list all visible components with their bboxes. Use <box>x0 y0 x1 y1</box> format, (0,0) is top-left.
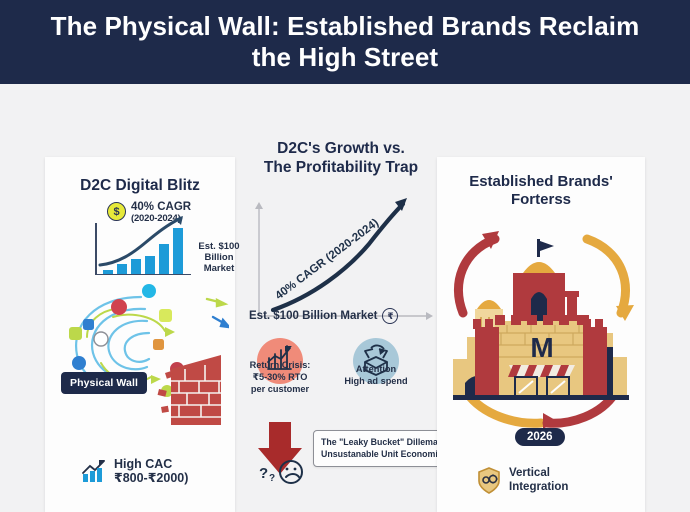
market-size-label: Est. $100 Billion Market ₹ <box>249 308 398 324</box>
question-mark-small: ? <box>269 473 275 484</box>
physical-wall-badge: Physical Wall <box>61 372 147 394</box>
chart-bar <box>103 270 113 274</box>
fortress-monogram: M <box>530 332 553 363</box>
vertical-integration-stat: Vertical Integration <box>477 467 568 495</box>
return-crisis-title: Return Crisis: <box>233 360 327 372</box>
page-header: The Physical Wall: Established Brands Re… <box>0 0 690 84</box>
chart-bar <box>145 256 155 274</box>
return-crisis-sub: per customer <box>233 384 327 396</box>
growth-curve-chart: 40% CAGR (2020-2024) <box>243 192 439 324</box>
right-panel-title: Established Brands' Forterss <box>437 157 645 209</box>
market-size-text: Est. $100 Billion Market <box>249 310 377 322</box>
shield-gear-icon <box>477 467 501 495</box>
middle-title-line1: D2C's Growth vs. <box>243 140 439 159</box>
chart-bar <box>159 244 169 274</box>
left-panel-card: D2C Digital Blitz $ 40% CAGR (2020-2024)… <box>45 157 235 512</box>
right-title-line2: Forterss <box>445 191 637 209</box>
right-panel-card: Established Brands' Forterss <box>437 157 645 512</box>
right-title-line1: Established Brands' <box>445 173 637 191</box>
attention-value: High ad spend <box>329 376 423 388</box>
middle-title-line2: The Profitability Trap <box>243 159 439 178</box>
growth-bar-chart <box>95 223 191 275</box>
bar-chart-up-icon <box>81 459 107 483</box>
left-panel-title: D2C Digital Blitz <box>45 157 235 196</box>
rupee-icon: ₹ <box>382 308 398 324</box>
return-crisis-value: ₹5-30% RTO <box>233 372 327 384</box>
chart-x-axis <box>95 274 191 276</box>
fortress-illustration: M <box>437 217 645 437</box>
cagr-text: 40% CAGR (2020-2024) <box>131 201 191 225</box>
vertical-integration-text: Vertical Integration <box>509 467 568 494</box>
chart-bar <box>131 259 141 274</box>
digital-vortex-wall-illustration <box>53 277 229 427</box>
market-note: Est. $100 Billion Market <box>197 241 241 275</box>
high-cac-label: High CAC <box>114 457 188 471</box>
attention-label: Attention High ad spend <box>329 364 423 388</box>
return-crisis-label: Return Crisis: ₹5-30% RTO per customer <box>233 360 327 395</box>
curve-label: 40% CAGR (2020-2024) <box>273 217 381 302</box>
vi-line2: Integration <box>509 481 568 495</box>
cagr-value: 40% CAGR <box>131 201 191 214</box>
high-cac-text: High CAC ₹800-₹2000) <box>114 457 188 486</box>
infographic-stage: D2C Digital Blitz $ 40% CAGR (2020-2024)… <box>0 84 690 512</box>
high-cac-value: ₹800-₹2000) <box>114 471 188 485</box>
dollar-coin-icon: $ <box>107 202 126 221</box>
question-marks: ? <box>259 465 268 482</box>
page-title: The Physical Wall: Established Brands Re… <box>35 11 655 72</box>
high-cac-stat: High CAC ₹800-₹2000) <box>81 457 188 486</box>
middle-panel: D2C's Growth vs. The Profitability Trap … <box>243 140 439 512</box>
vi-line1: Vertical <box>509 467 568 481</box>
attention-title: Attention <box>329 364 423 376</box>
chart-bar <box>173 228 183 274</box>
cagr-callout: $ 40% CAGR (2020-2024) <box>107 201 191 225</box>
year-badge: 2026 <box>515 428 565 446</box>
chart-bar <box>117 264 127 274</box>
middle-panel-title: D2C's Growth vs. The Profitability Trap <box>243 140 439 184</box>
chart-y-axis <box>95 223 97 275</box>
